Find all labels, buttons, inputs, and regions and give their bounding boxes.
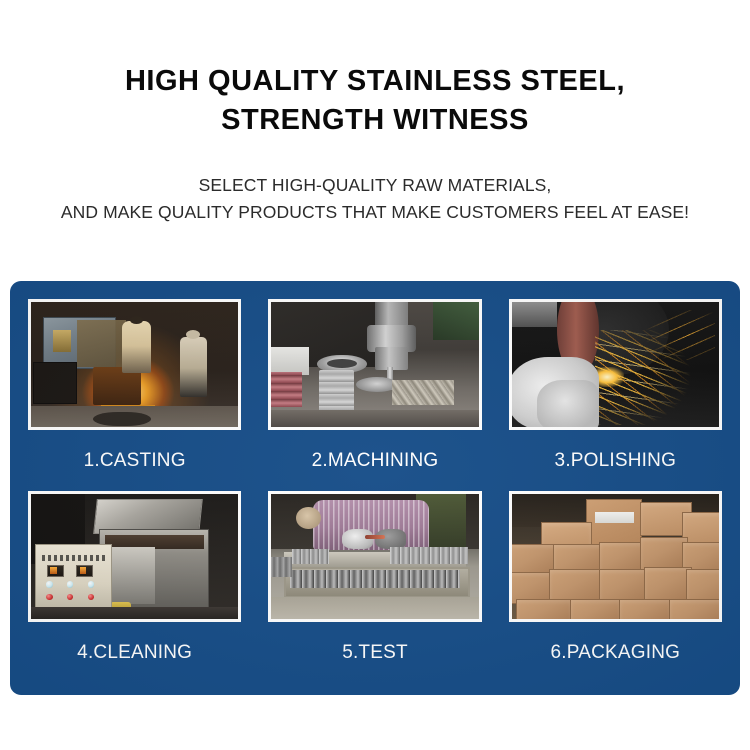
carton-shape — [516, 599, 572, 619]
page-subtitle: SELECT HIGH-QUALITY RAW MATERIALS, AND M… — [0, 172, 750, 225]
page-title-line-2: STRENGTH WITNESS — [65, 101, 685, 140]
parts-row-right — [390, 547, 469, 565]
foundry-box-shape — [33, 362, 76, 404]
packaging-photo-frame — [509, 491, 722, 622]
test-photo-frame — [268, 491, 481, 622]
work-glove-right — [537, 380, 599, 428]
white-bin-shape — [271, 347, 308, 375]
grinder-housing-shape — [512, 302, 558, 327]
machine-bench-shape — [271, 410, 478, 428]
carton-label-shape — [595, 512, 634, 523]
metal-chips-shape — [392, 380, 454, 405]
tank-front-panel-shape — [106, 547, 156, 605]
header-section: HIGH QUALITY STAINLESS STEEL, STRENGTH W… — [0, 0, 750, 225]
casting-photo-frame — [28, 299, 241, 430]
machining-photo-frame — [268, 299, 481, 430]
carton-shape — [619, 599, 671, 619]
process-step-6-caption: 6.PACKAGING — [509, 622, 722, 683]
cabinet-indicator-light-1 — [46, 581, 53, 587]
packaging-photo — [512, 494, 719, 619]
machining-photo — [271, 302, 478, 427]
cleaning-floor-shape — [31, 607, 238, 620]
parts-row-left — [292, 549, 329, 564]
cabinet-red-button-2 — [67, 594, 74, 600]
cleaning-photo-frame — [28, 491, 241, 622]
process-panel: 1.CASTING — [10, 281, 740, 695]
inspector-glove-left — [342, 529, 373, 549]
process-step-3[interactable]: 3.POLISHING — [509, 299, 722, 491]
cabinet-display-window-2 — [76, 565, 93, 578]
polishing-photo-frame — [509, 299, 722, 430]
process-step-6[interactable]: 6.PACKAGING — [509, 491, 722, 683]
foundry-worker-1 — [122, 321, 151, 374]
cabinet-red-button-3 — [88, 594, 95, 600]
test-photo — [271, 494, 478, 619]
cleaning-photo — [31, 494, 238, 619]
process-step-2[interactable]: 2.MACHINING — [268, 299, 481, 491]
cabinet-display-window-1 — [47, 565, 64, 578]
page-subtitle-line-1: SELECT HIGH-QUALITY RAW MATERIALS, — [199, 175, 552, 195]
process-step-1-caption: 1.CASTING — [28, 430, 241, 491]
carton-shape — [669, 599, 719, 619]
inspection-tool-shape — [365, 535, 386, 539]
process-step-4-caption: 4.CLEANING — [28, 622, 241, 683]
process-step-2-caption: 2.MACHINING — [268, 430, 481, 491]
process-step-1[interactable]: 1.CASTING — [28, 299, 241, 491]
page-title: HIGH QUALITY STAINLESS STEEL, STRENGTH W… — [65, 62, 685, 139]
process-step-3-caption: 3.POLISHING — [509, 430, 722, 491]
carton-shape — [570, 599, 622, 619]
casting-photo — [31, 302, 238, 427]
cabinet-red-button-1 — [46, 594, 53, 600]
cabinet-label-text-shape — [42, 555, 105, 561]
control-cabinet-shape — [35, 544, 112, 616]
polishing-photo — [512, 302, 719, 427]
plaid-cloth-shape — [271, 372, 302, 407]
inspector-head-shape — [296, 507, 321, 530]
process-step-grid: 1.CASTING — [28, 299, 722, 683]
cabinet-indicator-light-2 — [67, 581, 74, 587]
parts-in-tray-shape — [290, 570, 460, 588]
test-floor-shape — [271, 597, 478, 620]
foundry-pit — [93, 412, 151, 426]
cabinet-indicator-light-3 — [88, 581, 95, 587]
side-parts-bin-shape — [271, 557, 292, 577]
green-machine-body — [433, 302, 479, 340]
carton-shape — [644, 567, 692, 604]
foundry-worker-2 — [180, 337, 207, 397]
process-step-5[interactable]: 5.TEST — [268, 491, 481, 683]
page-subtitle-line-2: AND MAKE QUALITY PRODUCTS THAT MAKE CUST… — [0, 199, 750, 226]
furnace-door-shape — [77, 320, 127, 368]
page-title-line-1: HIGH QUALITY STAINLESS STEEL, — [125, 65, 625, 97]
process-step-5-caption: 5.TEST — [268, 622, 481, 683]
process-step-4[interactable]: 4.CLEANING — [28, 491, 241, 683]
